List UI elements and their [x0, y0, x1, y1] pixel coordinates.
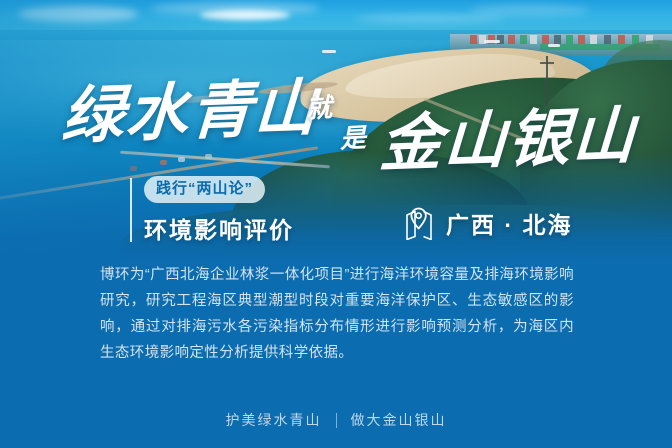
location-label: 广西 · 北海 — [446, 206, 572, 240]
service-headline: 环境影响评价 — [144, 211, 294, 245]
footer-slogan: 护美绿水青山 做大金山银山 — [0, 410, 672, 430]
eia-promo-banner: 绿水青山 就 是 金山银山 践行“两山论” 环境影响评价 广西 · 北海 博环为… — [0, 0, 672, 448]
slogan-badge: 践行“两山论” — [144, 176, 265, 203]
map-pin-icon — [404, 206, 434, 240]
title-connector-shi: 是 — [339, 125, 366, 152]
footer-slogan-left: 护美绿水青山 — [226, 410, 322, 430]
title-connector-jiu: 就 — [305, 95, 332, 122]
footer-slogan-right: 做大金山银山 — [351, 410, 447, 430]
location-group: 广西 · 北海 — [404, 206, 572, 240]
footer-divider — [336, 413, 337, 428]
vertical-divider — [130, 178, 132, 242]
title-right-phrase: 金山银山 — [378, 106, 638, 177]
project-description: 博环为“广西北海企业林浆一体化项目”进行海洋环境容量及排海环境影响研究，研究工程… — [100, 262, 574, 366]
title-left-phrase: 绿水青山 — [60, 78, 320, 149]
